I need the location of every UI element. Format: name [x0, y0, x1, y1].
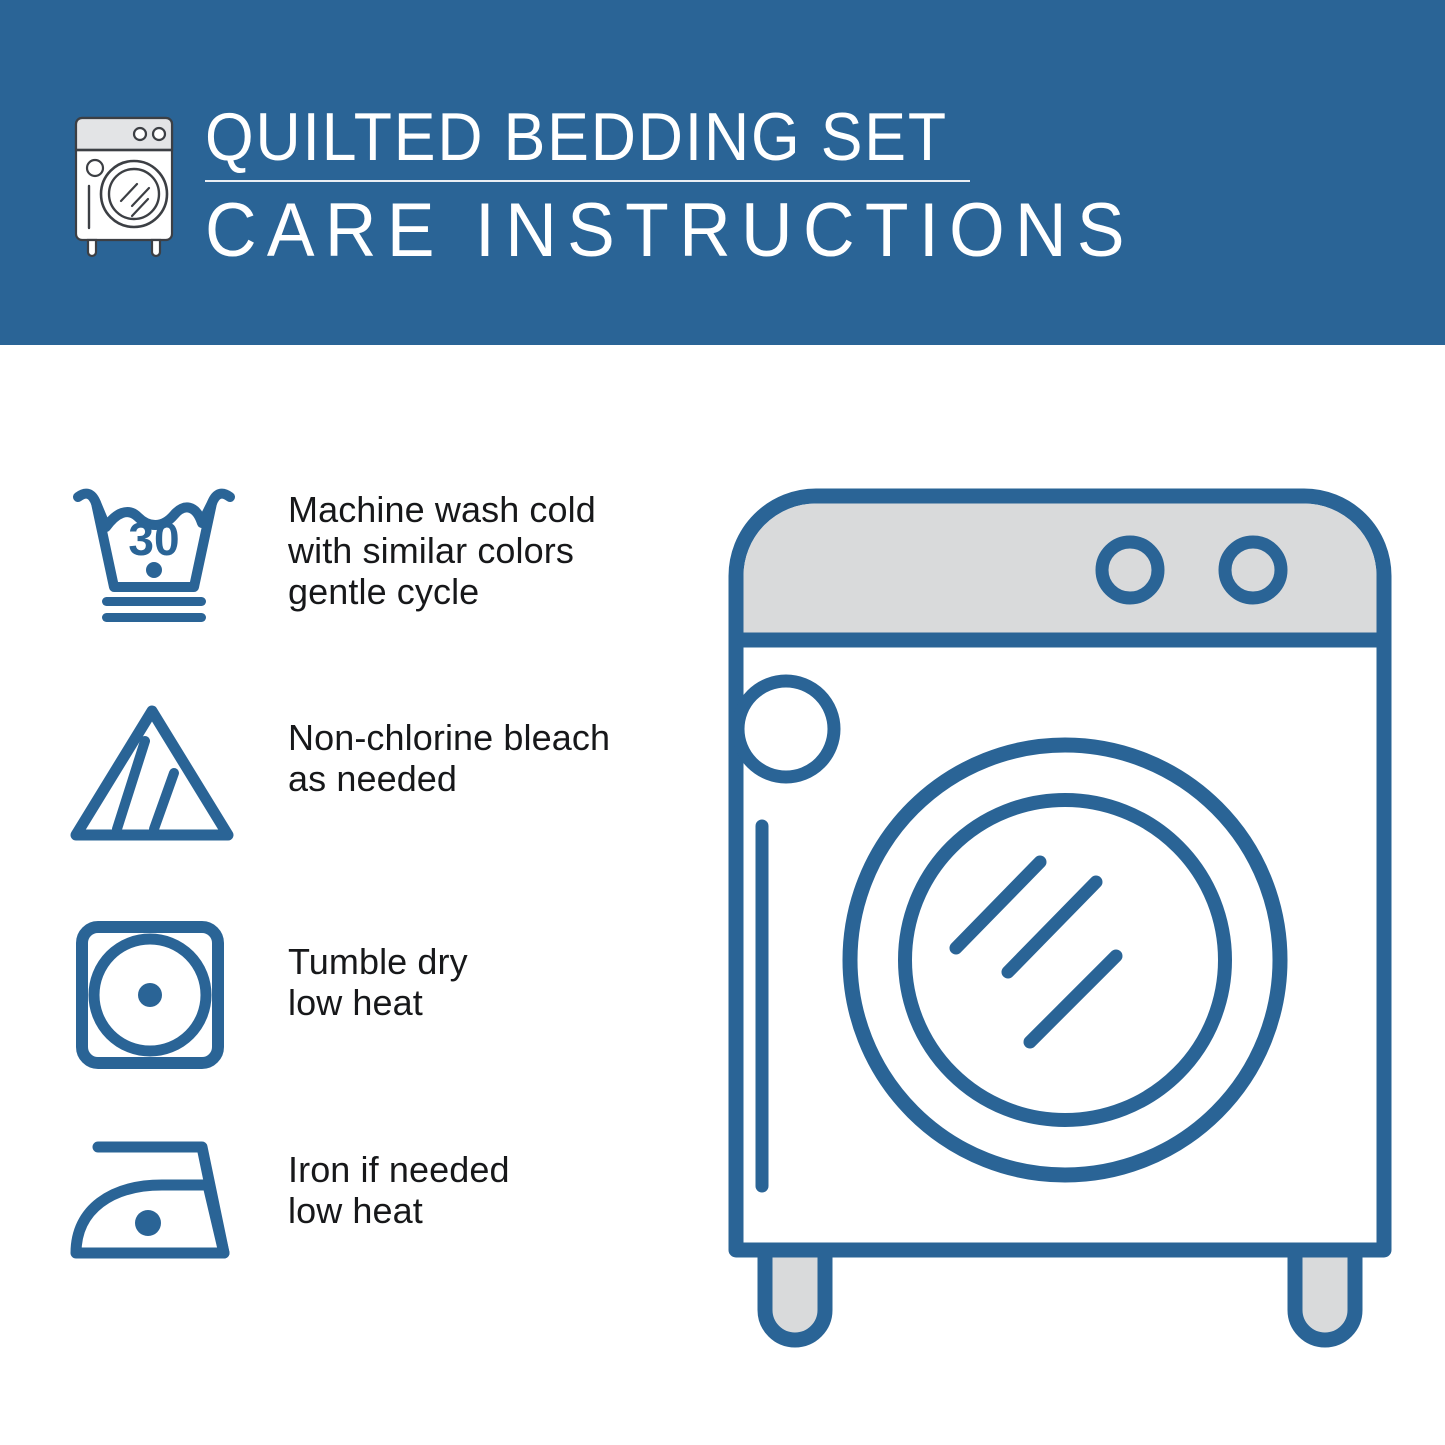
- care-instructions-page: QUILTED BEDDING SET CARE INSTRUCTIONS 30: [0, 0, 1445, 1445]
- iron-low-heat-icon: [62, 1125, 262, 1285]
- care-label-line: low heat: [288, 982, 688, 1023]
- care-row: Iron if needed low heat: [0, 1125, 700, 1325]
- page-subtitle: CARE INSTRUCTIONS: [205, 190, 976, 272]
- machine-wash-30-icon: 30: [62, 475, 262, 635]
- care-label-line: with similar colors: [288, 530, 688, 571]
- washing-machine-icon: [62, 100, 192, 260]
- non-chlorine-bleach-triangle-icon: [62, 695, 262, 855]
- care-label-line: gentle cycle: [288, 571, 688, 612]
- title-divider: [205, 180, 970, 182]
- knob-left: [1102, 542, 1158, 598]
- care-label-line: low heat: [288, 1190, 688, 1231]
- care-label-line: Iron if needed: [288, 1149, 688, 1190]
- care-label: Iron if needed low heat: [288, 1149, 688, 1231]
- care-label-line: Machine wash cold: [288, 489, 688, 530]
- washing-machine-illustration: [710, 470, 1410, 1370]
- page-header: QUILTED BEDDING SET CARE INSTRUCTIONS: [0, 0, 1445, 345]
- header-text-block: QUILTED BEDDING SET CARE INSTRUCTIONS: [205, 100, 1025, 272]
- care-label-line: as needed: [288, 758, 688, 799]
- page-title: QUILTED BEDDING SET: [205, 100, 959, 174]
- detergent-button: [738, 681, 834, 777]
- care-label-line: Tumble dry: [288, 941, 688, 982]
- knob-right: [1225, 542, 1281, 598]
- care-row: 30 Machine wash cold with similar colors…: [0, 475, 700, 675]
- care-label: Machine wash cold with similar colors ge…: [288, 489, 688, 612]
- care-row: Non-chlorine bleach as needed: [0, 695, 700, 895]
- care-label: Non-chlorine bleach as needed: [288, 717, 688, 799]
- leg-left: [765, 1250, 825, 1340]
- wash-temperature-value: 30: [128, 513, 179, 565]
- tumble-dry-low-icon: [62, 915, 262, 1075]
- leg-right: [1295, 1250, 1355, 1340]
- care-label: Tumble dry low heat: [288, 941, 688, 1023]
- care-instruction-list: 30 Machine wash cold with similar colors…: [0, 345, 700, 1445]
- door-inner-ring: [905, 800, 1225, 1120]
- care-row: Tumble dry low heat: [0, 915, 700, 1115]
- care-label-line: Non-chlorine bleach: [288, 717, 688, 758]
